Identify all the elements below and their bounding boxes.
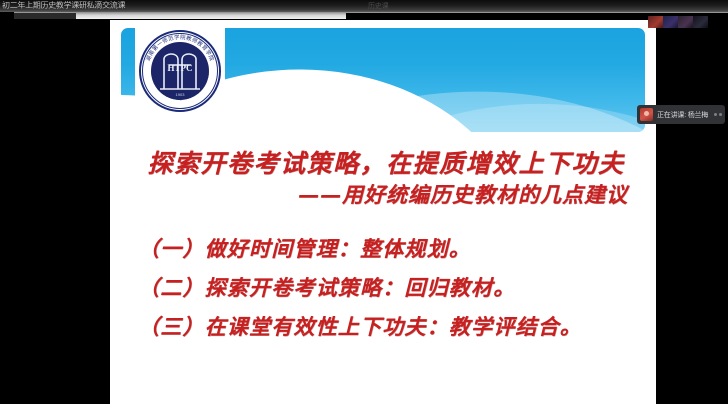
slide-canvas: 湖南第一师范学院教师教育学院 Hunan First Normal Univer… [110,20,656,404]
participant-video-tile[interactable] [693,16,708,28]
participant-video-strip[interactable] [648,16,708,28]
slide-title: 探索开卷考试策略，在提质增效上下功夫 [130,144,642,180]
slide-subtitle: ——用好统编历史教材的几点建议 [130,179,642,209]
presenter-avatar [640,108,653,121]
school-seal-logo: 湖南第一师范学院教师教育学院 Hunan First Normal Univer… [138,29,222,113]
seal-monogram-icon: HTPC 1903 [138,29,222,113]
window-title: 初二年上期历史教学课研私滴交流课 [2,0,125,11]
participant-video-tile[interactable] [663,16,678,28]
svg-text:1903: 1903 [176,92,186,97]
slide-bullet-item: （一）做好时间管理：整体规划。 [138,236,638,262]
screen-share-window: 初二年上期历史教学课研私滴交流课 历史课 [0,0,728,404]
participant-video-tile[interactable] [648,16,663,28]
participant-video-tile[interactable] [678,16,693,28]
slide-bullet-item: （三）在课堂有效性上下功夫：教学评结合。 [138,314,638,340]
presenter-status-toolbar[interactable]: 正在讲课: 杨兰梅 [637,105,725,124]
slide-bullet-list: （一）做好时间管理：整体规划。 （二）探索开卷考试策略：回归教材。 （三）在课堂… [138,236,638,353]
svg-text:HTPC: HTPC [167,63,192,73]
slide-bullet-item: （二）探索开卷考试策略：回归教材。 [138,275,638,301]
presenter-status-label: 正在讲课: 杨兰梅 [657,110,712,120]
more-dots-icon[interactable] [714,113,722,116]
window-center-caption: 历史课 [368,2,388,12]
presentation-stage: 湖南第一师范学院教师教育学院 Hunan First Normal Univer… [0,19,728,404]
